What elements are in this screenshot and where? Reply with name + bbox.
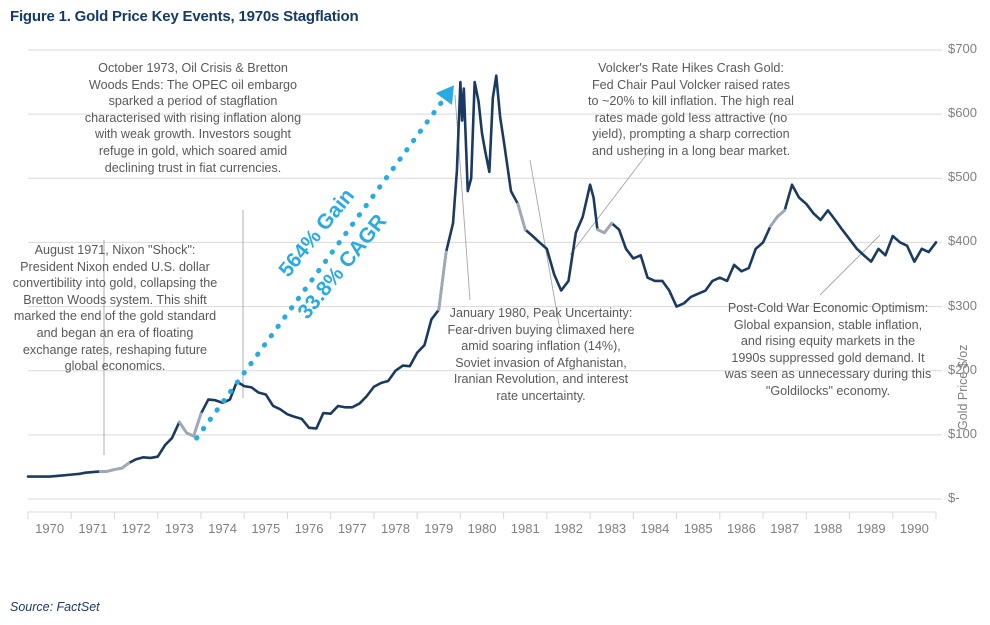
source-note: Source: FactSet: [10, 600, 100, 614]
y-axis-title: Gold Price $/oz: [956, 345, 970, 430]
y-tick-label: $100: [948, 426, 977, 441]
x-tick-label: 1990: [886, 521, 942, 536]
y-tick-label: $700: [948, 41, 977, 56]
annotation-volcker: Volcker's Rate Hikes Crash Gold: Fed Cha…: [588, 60, 794, 160]
annotation-oil-crisis: October 1973, Oil Crisis & Bretton Woods…: [84, 60, 302, 176]
figure-root: Figure 1. Gold Price Key Events, 1970s S…: [0, 0, 990, 625]
y-tick-label: $600: [948, 105, 977, 120]
y-tick-label: $200: [948, 362, 977, 377]
annotation-peak-1980: January 1980, Peak Uncertainty: Fear-dri…: [443, 305, 639, 405]
annotation-nixon-shock: August 1971, Nixon "Shock": President Ni…: [8, 242, 222, 375]
y-tick-label: $-: [948, 490, 960, 505]
y-tick-label: $300: [948, 298, 977, 313]
y-tick-label: $400: [948, 233, 977, 248]
annotation-post-cold-war: Post-Cold War Economic Optimism: Global …: [722, 300, 934, 400]
y-tick-label: $500: [948, 169, 977, 184]
